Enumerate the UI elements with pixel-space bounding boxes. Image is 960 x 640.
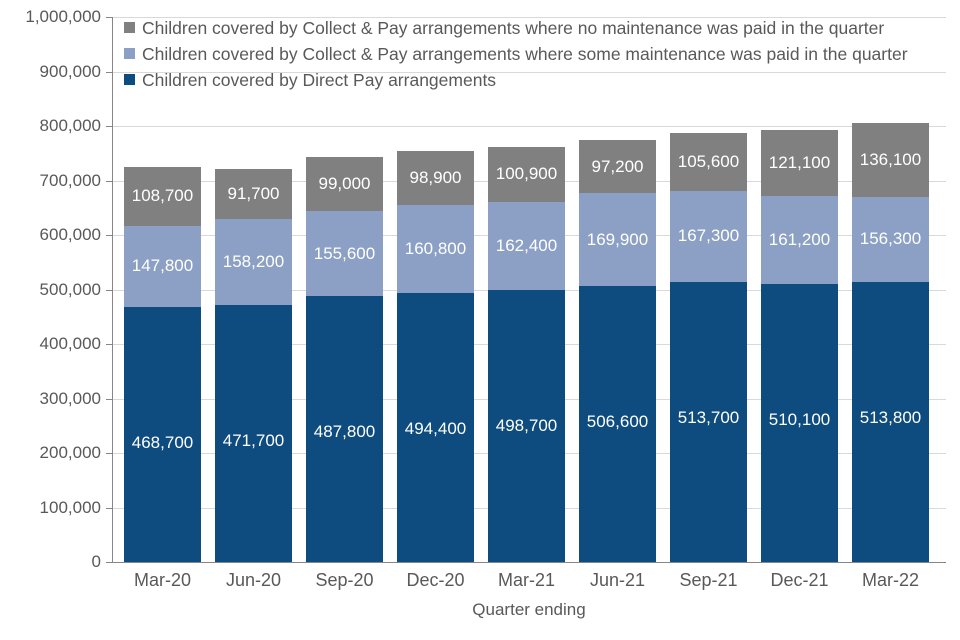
legend-item[interactable]: Children covered by Collect & Pay arrang… — [124, 42, 934, 66]
bar-group[interactable]: 121,100161,200510,100 — [761, 130, 838, 562]
bar-value-label: 510,100 — [769, 410, 830, 430]
bar-value-label: 471,700 — [223, 431, 284, 451]
bar-group[interactable]: 98,900160,800494,400 — [397, 151, 474, 562]
x-axis-tick-label: Mar-20 — [117, 570, 208, 591]
bar-value-label: 498,700 — [496, 416, 557, 436]
bar-value-label: 161,200 — [769, 230, 830, 250]
bar-segment[interactable]: 108,700 — [124, 167, 201, 226]
legend-swatch-icon — [124, 48, 135, 59]
bar-value-label: 487,800 — [314, 422, 375, 442]
bar-value-label: 100,900 — [496, 164, 557, 184]
stacked-bar-chart: 0100,000200,000300,000400,000500,000600,… — [0, 0, 960, 640]
bar-segment[interactable]: 136,100 — [852, 123, 929, 197]
bar-segment[interactable]: 99,000 — [306, 157, 383, 211]
bar-value-label: 97,200 — [592, 157, 644, 177]
y-axis-tick-label: 500,000 — [0, 280, 101, 300]
bar-value-label: 167,300 — [678, 226, 739, 246]
bar-segment[interactable]: 498,700 — [488, 290, 565, 562]
x-axis-tick-label: Dec-20 — [390, 570, 481, 591]
bar-segment[interactable]: 162,400 — [488, 202, 565, 291]
x-axis-tick-label: Sep-20 — [299, 570, 390, 591]
bar-value-label: 160,800 — [405, 239, 466, 259]
bar-segment[interactable]: 513,800 — [852, 282, 929, 562]
bar-value-label: 99,000 — [319, 174, 371, 194]
x-axis-tick-label: Mar-22 — [845, 570, 936, 591]
bar-segment[interactable]: 155,600 — [306, 211, 383, 296]
bar-value-label: 513,800 — [860, 408, 921, 428]
bar-segment[interactable]: 510,100 — [761, 284, 838, 562]
bar-group[interactable]: 136,100156,300513,800 — [852, 123, 929, 562]
bar-segment[interactable]: 100,900 — [488, 147, 565, 202]
x-axis-title: Quarter ending — [113, 600, 945, 620]
bar-segment[interactable]: 506,600 — [579, 286, 656, 562]
bar-value-label: 147,800 — [132, 256, 193, 276]
legend-label: Children covered by Collect & Pay arrang… — [142, 42, 908, 66]
bar-segment[interactable]: 91,700 — [215, 169, 292, 219]
bar-segment[interactable]: 147,800 — [124, 226, 201, 307]
bar-segment[interactable]: 169,900 — [579, 193, 656, 286]
y-axis-tick-label: 700,000 — [0, 171, 101, 191]
x-axis-tick-label: Jun-21 — [572, 570, 663, 591]
legend-swatch-icon — [124, 22, 135, 33]
x-axis-tick-label: Sep-21 — [663, 570, 754, 591]
bar-segment[interactable]: 494,400 — [397, 293, 474, 562]
x-axis-tick-label: Dec-21 — [754, 570, 845, 591]
y-axis-tick-label: 800,000 — [0, 116, 101, 136]
bar-segment[interactable]: 167,300 — [670, 191, 747, 282]
bar-group[interactable]: 91,700158,200471,700 — [215, 169, 292, 562]
bar-value-label: 108,700 — [132, 186, 193, 206]
bar-segment[interactable]: 98,900 — [397, 151, 474, 205]
bar-segment[interactable]: 513,700 — [670, 282, 747, 562]
bar-value-label: 468,700 — [132, 433, 193, 453]
y-axis-tick-label: 200,000 — [0, 443, 101, 463]
bar-segment[interactable]: 158,200 — [215, 219, 292, 305]
bar-group[interactable]: 99,000155,600487,800 — [306, 157, 383, 562]
legend-swatch-icon — [124, 74, 135, 85]
y-axis-tick-label: 600,000 — [0, 225, 101, 245]
y-axis-tick-label: 400,000 — [0, 334, 101, 354]
bar-group[interactable]: 97,200169,900506,600 — [579, 140, 656, 562]
bar-segment[interactable]: 160,800 — [397, 205, 474, 293]
legend-item[interactable]: Children covered by Collect & Pay arrang… — [124, 16, 934, 40]
bar-segment[interactable]: 97,200 — [579, 140, 656, 193]
bar-value-label: 494,400 — [405, 419, 466, 439]
y-axis-tick-label: 0 — [0, 552, 101, 572]
y-axis-tick-label: 100,000 — [0, 498, 101, 518]
bar-value-label: 158,200 — [223, 252, 284, 272]
bar-segment[interactable]: 121,100 — [761, 130, 838, 196]
bar-group[interactable]: 100,900162,400498,700 — [488, 147, 565, 562]
bar-segment[interactable]: 471,700 — [215, 305, 292, 562]
bar-value-label: 155,600 — [314, 244, 375, 264]
plot-area: 108,700147,800468,70091,700158,200471,70… — [113, 17, 945, 562]
y-axis-tick-label: 900,000 — [0, 62, 101, 82]
bar-value-label: 136,100 — [860, 150, 921, 170]
bar-value-label: 156,300 — [860, 229, 921, 249]
bar-segment[interactable]: 156,300 — [852, 197, 929, 282]
bar-segment[interactable]: 105,600 — [670, 133, 747, 191]
chart-legend: Children covered by Collect & Pay arrang… — [124, 16, 934, 94]
bar-segment[interactable]: 468,700 — [124, 307, 201, 562]
bar-value-label: 98,900 — [410, 168, 462, 188]
bar-segment[interactable]: 487,800 — [306, 296, 383, 562]
bar-value-label: 513,700 — [678, 408, 739, 428]
bar-group[interactable]: 105,600167,300513,700 — [670, 133, 747, 562]
legend-item[interactable]: Children covered by Direct Pay arrangeme… — [124, 68, 934, 92]
y-axis-tick-label: 300,000 — [0, 389, 101, 409]
bar-value-label: 169,900 — [587, 230, 648, 250]
bar-group[interactable]: 108,700147,800468,700 — [124, 167, 201, 562]
legend-label: Children covered by Direct Pay arrangeme… — [142, 68, 496, 92]
bar-value-label: 121,100 — [769, 153, 830, 173]
x-axis-line — [113, 562, 946, 563]
bar-value-label: 162,400 — [496, 236, 557, 256]
bar-value-label: 91,700 — [228, 184, 280, 204]
x-axis-tick-label: Mar-21 — [481, 570, 572, 591]
bar-value-label: 506,600 — [587, 412, 648, 432]
bar-segment[interactable]: 161,200 — [761, 196, 838, 284]
y-axis-tick-label: 1,000,000 — [0, 7, 101, 27]
x-axis-tick-label: Jun-20 — [208, 570, 299, 591]
legend-label: Children covered by Collect & Pay arrang… — [142, 16, 884, 40]
bar-value-label: 105,600 — [678, 152, 739, 172]
